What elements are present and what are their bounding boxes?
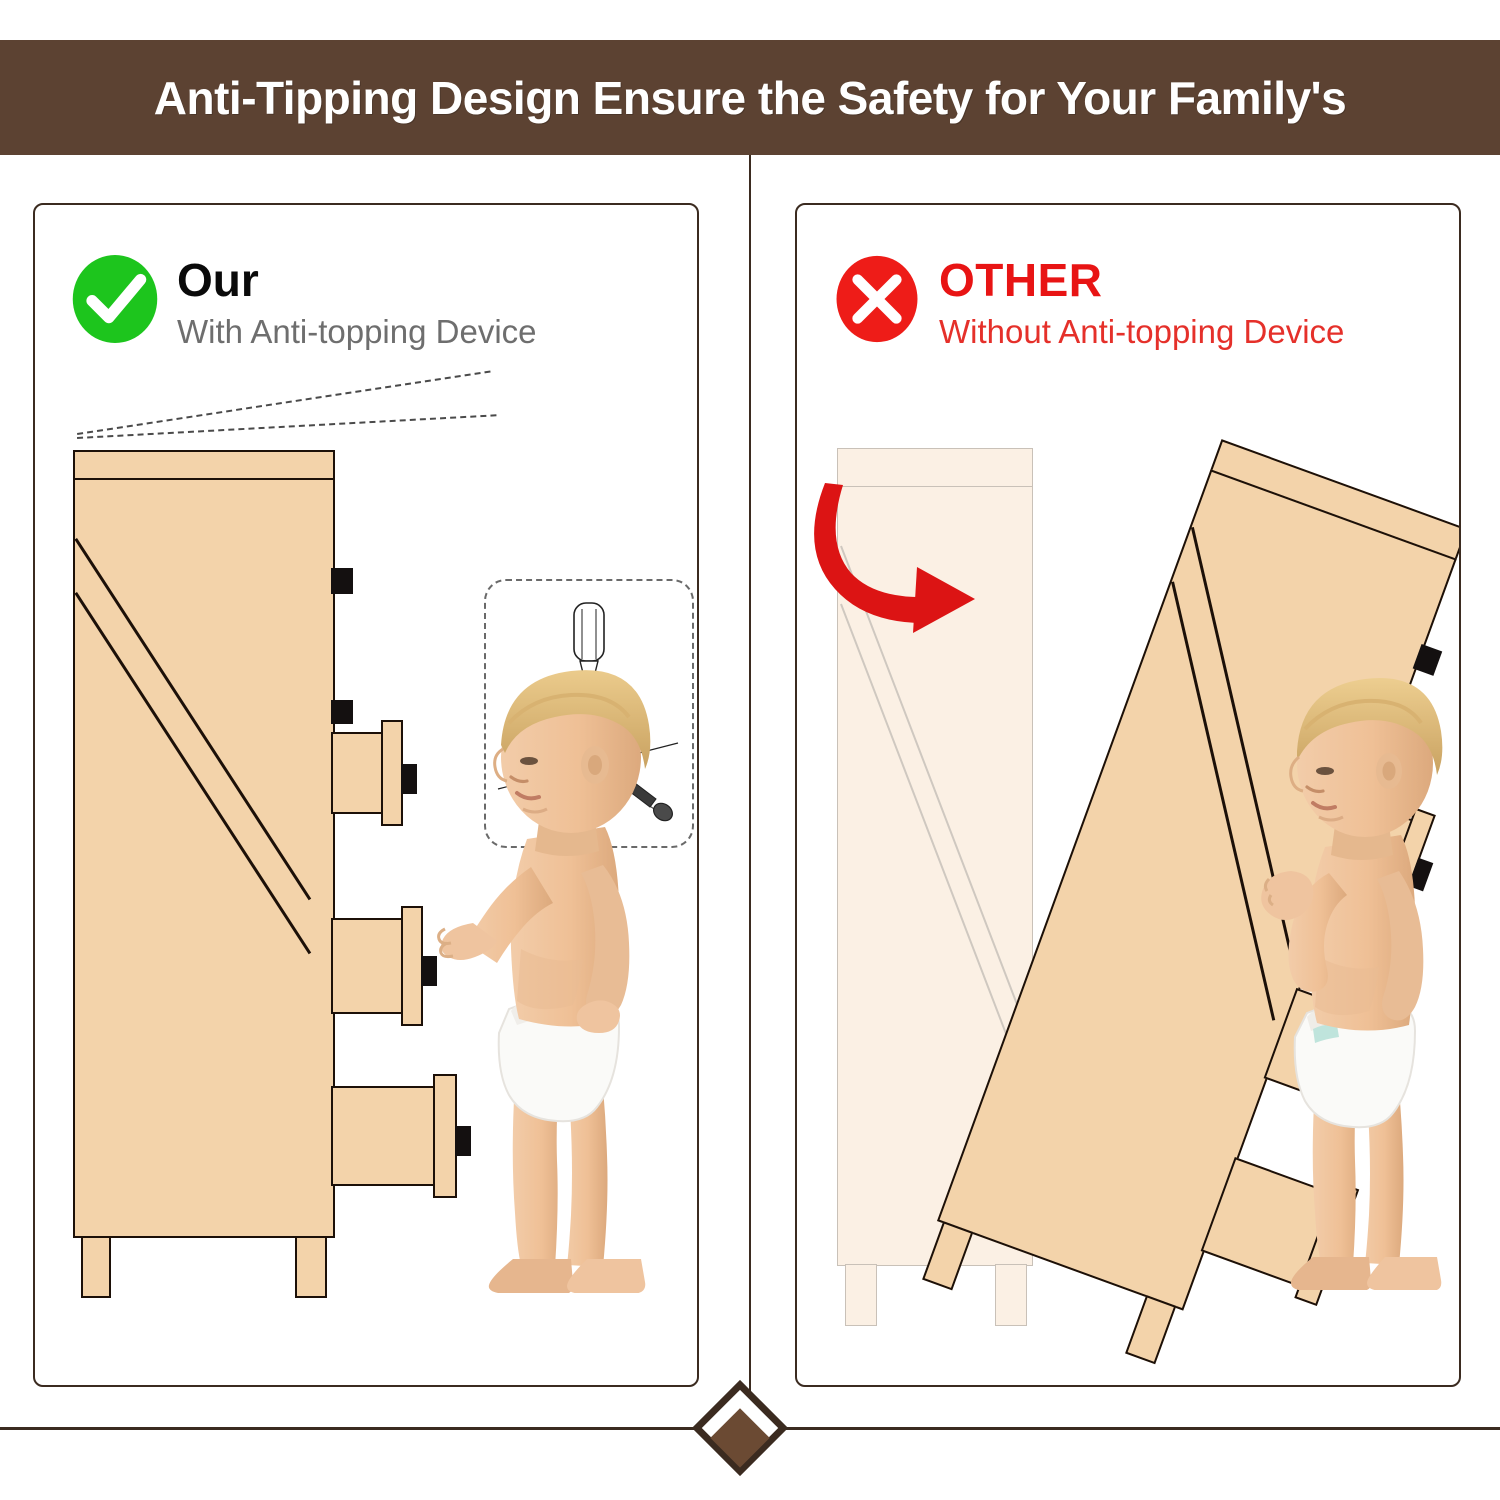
dresser-leg-right bbox=[295, 1236, 327, 1298]
center-divider bbox=[749, 155, 751, 1428]
other-title: OTHER bbox=[939, 257, 1344, 305]
dresser-grain-line-2 bbox=[75, 592, 311, 954]
dresser-body bbox=[73, 478, 335, 1238]
drawer-front bbox=[381, 720, 403, 826]
drawer-handle bbox=[401, 764, 417, 794]
dresser-upright bbox=[73, 450, 493, 1310]
toddler-standing-at-risk bbox=[1249, 665, 1461, 1290]
dresser-leg-right bbox=[1125, 1295, 1176, 1364]
our-heading-row: Our With Anti-topping Device bbox=[71, 253, 537, 352]
drawer-box bbox=[331, 1086, 441, 1186]
comparison-panel-other: OTHER Without Anti-topping Device bbox=[795, 203, 1461, 1387]
our-heading-text: Our With Anti-topping Device bbox=[177, 253, 537, 352]
other-heading-text: OTHER Without Anti-topping Device bbox=[939, 253, 1344, 352]
header-bar: Anti-Tipping Design Ensure the Safety fo… bbox=[0, 40, 1500, 155]
dresser-leg-left bbox=[81, 1236, 111, 1298]
toddler-standing-safe bbox=[435, 653, 685, 1293]
our-subtitle: With Anti-topping Device bbox=[177, 311, 537, 352]
callout-leader-line-bottom bbox=[77, 414, 496, 439]
dresser-grain-line-1 bbox=[75, 538, 311, 900]
diamond-core-fill bbox=[710, 1408, 769, 1467]
diamond-divider-ornament bbox=[692, 1380, 788, 1476]
anti-tip-bracket-lower bbox=[331, 700, 353, 724]
dresser-top-panel bbox=[73, 450, 335, 480]
comparison-panel-our: Our With Anti-topping Device bbox=[33, 203, 699, 1387]
anti-tip-bracket-upper bbox=[331, 568, 353, 594]
other-subtitle: Without Anti-topping Device bbox=[939, 311, 1344, 352]
red-x-circle-icon bbox=[833, 253, 921, 345]
other-heading-row: OTHER Without Anti-topping Device bbox=[833, 253, 1344, 352]
green-check-circle-icon bbox=[71, 253, 159, 345]
drawer-front bbox=[401, 906, 423, 1026]
drawer-box bbox=[331, 918, 409, 1014]
page-title: Anti-Tipping Design Ensure the Safety fo… bbox=[154, 71, 1346, 125]
tipping-direction-arrow bbox=[807, 475, 987, 655]
diamond-inner-white bbox=[702, 1390, 778, 1466]
our-title: Our bbox=[177, 257, 537, 305]
